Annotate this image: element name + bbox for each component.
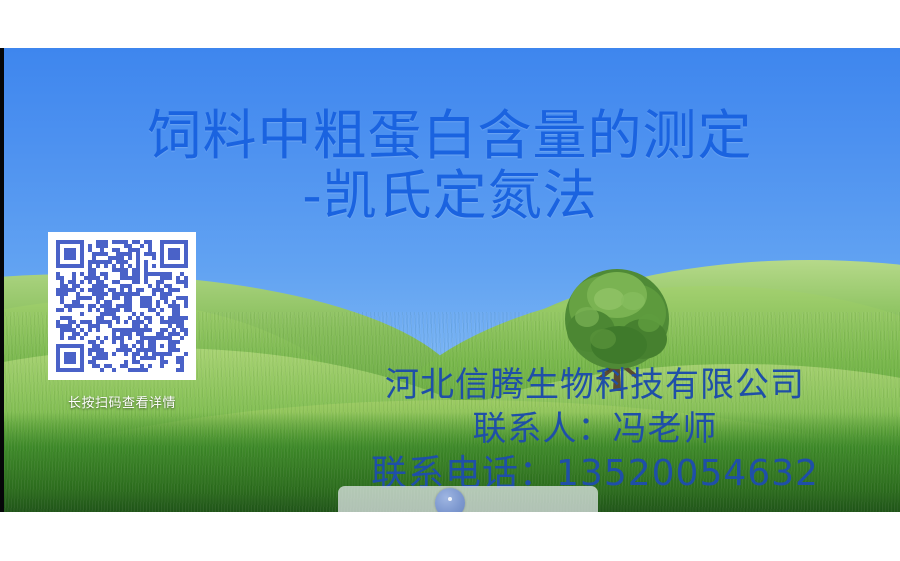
video-poster[interactable]: 饲料中粗蛋白含量的测定 -凯氏定氮法 长按扫码查看详情 河北信腾生物科技有限公司… [0,48,900,512]
top-white-band [0,0,900,48]
page-title-line-2: -凯氏定氮法 [0,166,900,226]
qr-code-block[interactable]: 长按扫码查看详情 [48,232,196,411]
letterbox-left [0,48,4,512]
company-info-block: 河北信腾生物科技有限公司 联系人：冯老师 联系电话：13520054632 [300,364,890,497]
poster-headline: 饲料中粗蛋白含量的测定 -凯氏定氮法 [0,106,900,227]
qr-code-card[interactable] [48,232,196,380]
company-name: 河北信腾生物科技有限公司 [300,364,890,408]
play-button[interactable] [435,488,465,512]
page-title-line-1: 饲料中粗蛋白含量的测定 [0,106,900,166]
screen: 饲料中粗蛋白含量的测定 -凯氏定氮法 长按扫码查看详情 河北信腾生物科技有限公司… [0,0,900,561]
qr-code-caption: 长按扫码查看详情 [48,392,196,411]
contact-person: 联系人：冯老师 [300,408,890,452]
bottom-white-band [0,512,900,561]
qr-code-image[interactable] [56,240,188,372]
player-control-bar[interactable] [338,486,598,512]
